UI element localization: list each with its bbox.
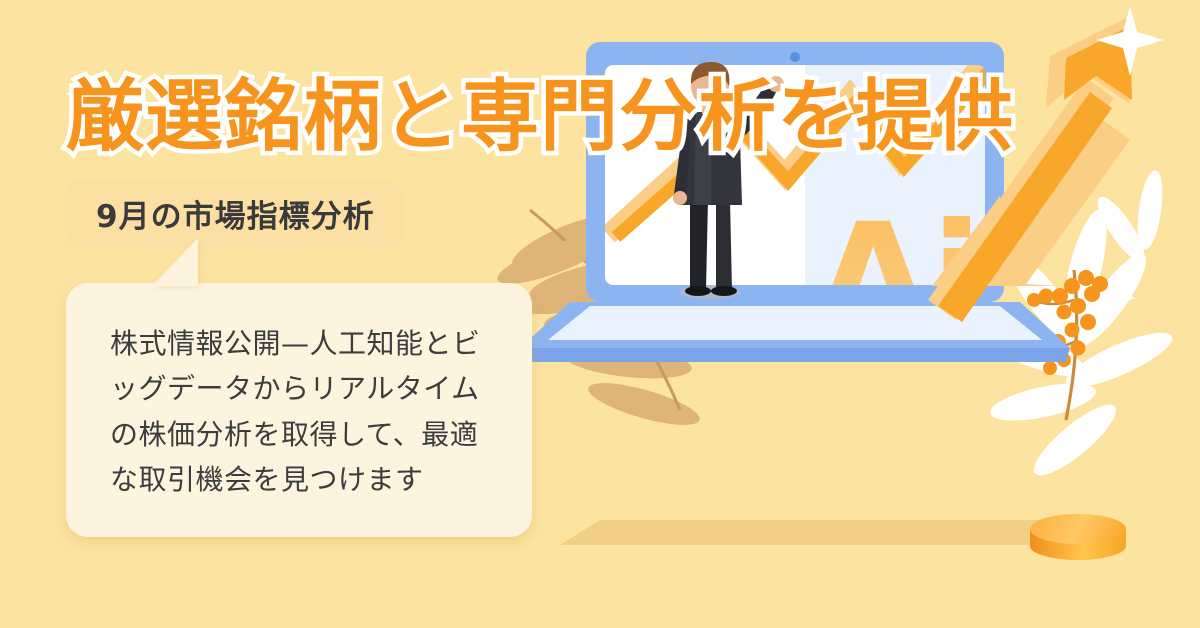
- page-title: 厳選銘柄と専門分析を提供: [66, 54, 1014, 166]
- speech-bubble-tail: [152, 238, 198, 286]
- description-card: 株式情報公開—人工知能とビ ッグデータからリアルタイム の株価分析を取得して、最…: [66, 283, 532, 537]
- gold-coin-icon: [1030, 514, 1126, 544]
- description-line: の株価分析を取得して、最適: [110, 412, 502, 457]
- subtitle-badge: 9月の市場指標分析: [66, 180, 403, 249]
- description-line: な取引機会を見つけます: [110, 457, 502, 502]
- laptop-base: [520, 302, 1070, 362]
- description-line: 株式情報公開—人工知能とビ: [110, 321, 502, 366]
- description-line: ッグデータからリアルタイム: [110, 366, 502, 411]
- promo-banner: 厳選銘柄と専門分析を提供 厳選銘柄と専門分析を提供 9月の市場指標分析 株式情報…: [0, 0, 1200, 628]
- description-text: 株式情報公開—人工知能とビ ッグデータからリアルタイム の株価分析を取得して、最…: [110, 321, 502, 502]
- laptop-shadow: [560, 520, 1090, 545]
